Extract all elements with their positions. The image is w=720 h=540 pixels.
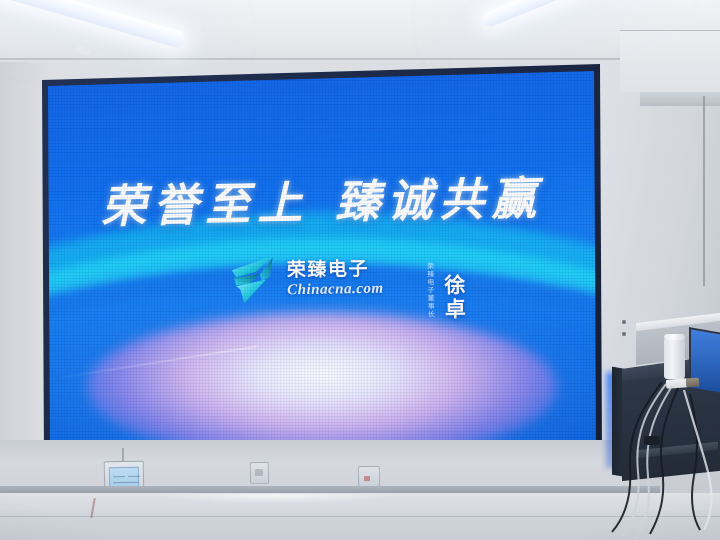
wall-screw-upper: [622, 320, 626, 324]
outlet-face-mark: [255, 469, 263, 476]
cable-bundle: [604, 372, 720, 540]
wall-cable: [703, 96, 705, 286]
soffit-box: [620, 30, 720, 92]
outlet-indicator: [364, 476, 370, 481]
wall-outlet-right[interactable]: [358, 466, 380, 487]
led-video-wall[interactable]: 荣誉至上臻诚共赢: [34, 62, 610, 462]
control-panel-line-2: [128, 476, 140, 477]
control-panel-line-1: [113, 476, 125, 477]
wall-screw-lower: [622, 332, 626, 336]
screen-panel[interactable]: 荣誉至上臻诚共赢: [34, 62, 610, 462]
control-box-conduit: [122, 448, 124, 462]
soffit-face: [640, 92, 720, 106]
tumbler-lid: [664, 334, 685, 340]
room-photo-scene: 荣誉至上臻诚共赢: [0, 0, 720, 540]
led-pixel-grid: [34, 62, 610, 462]
ceiling-wall-seam: [0, 58, 640, 60]
floor-reflection: [150, 494, 400, 504]
control-panel-line-3: [113, 482, 139, 483]
wall-outlet-left[interactable]: [250, 462, 269, 484]
